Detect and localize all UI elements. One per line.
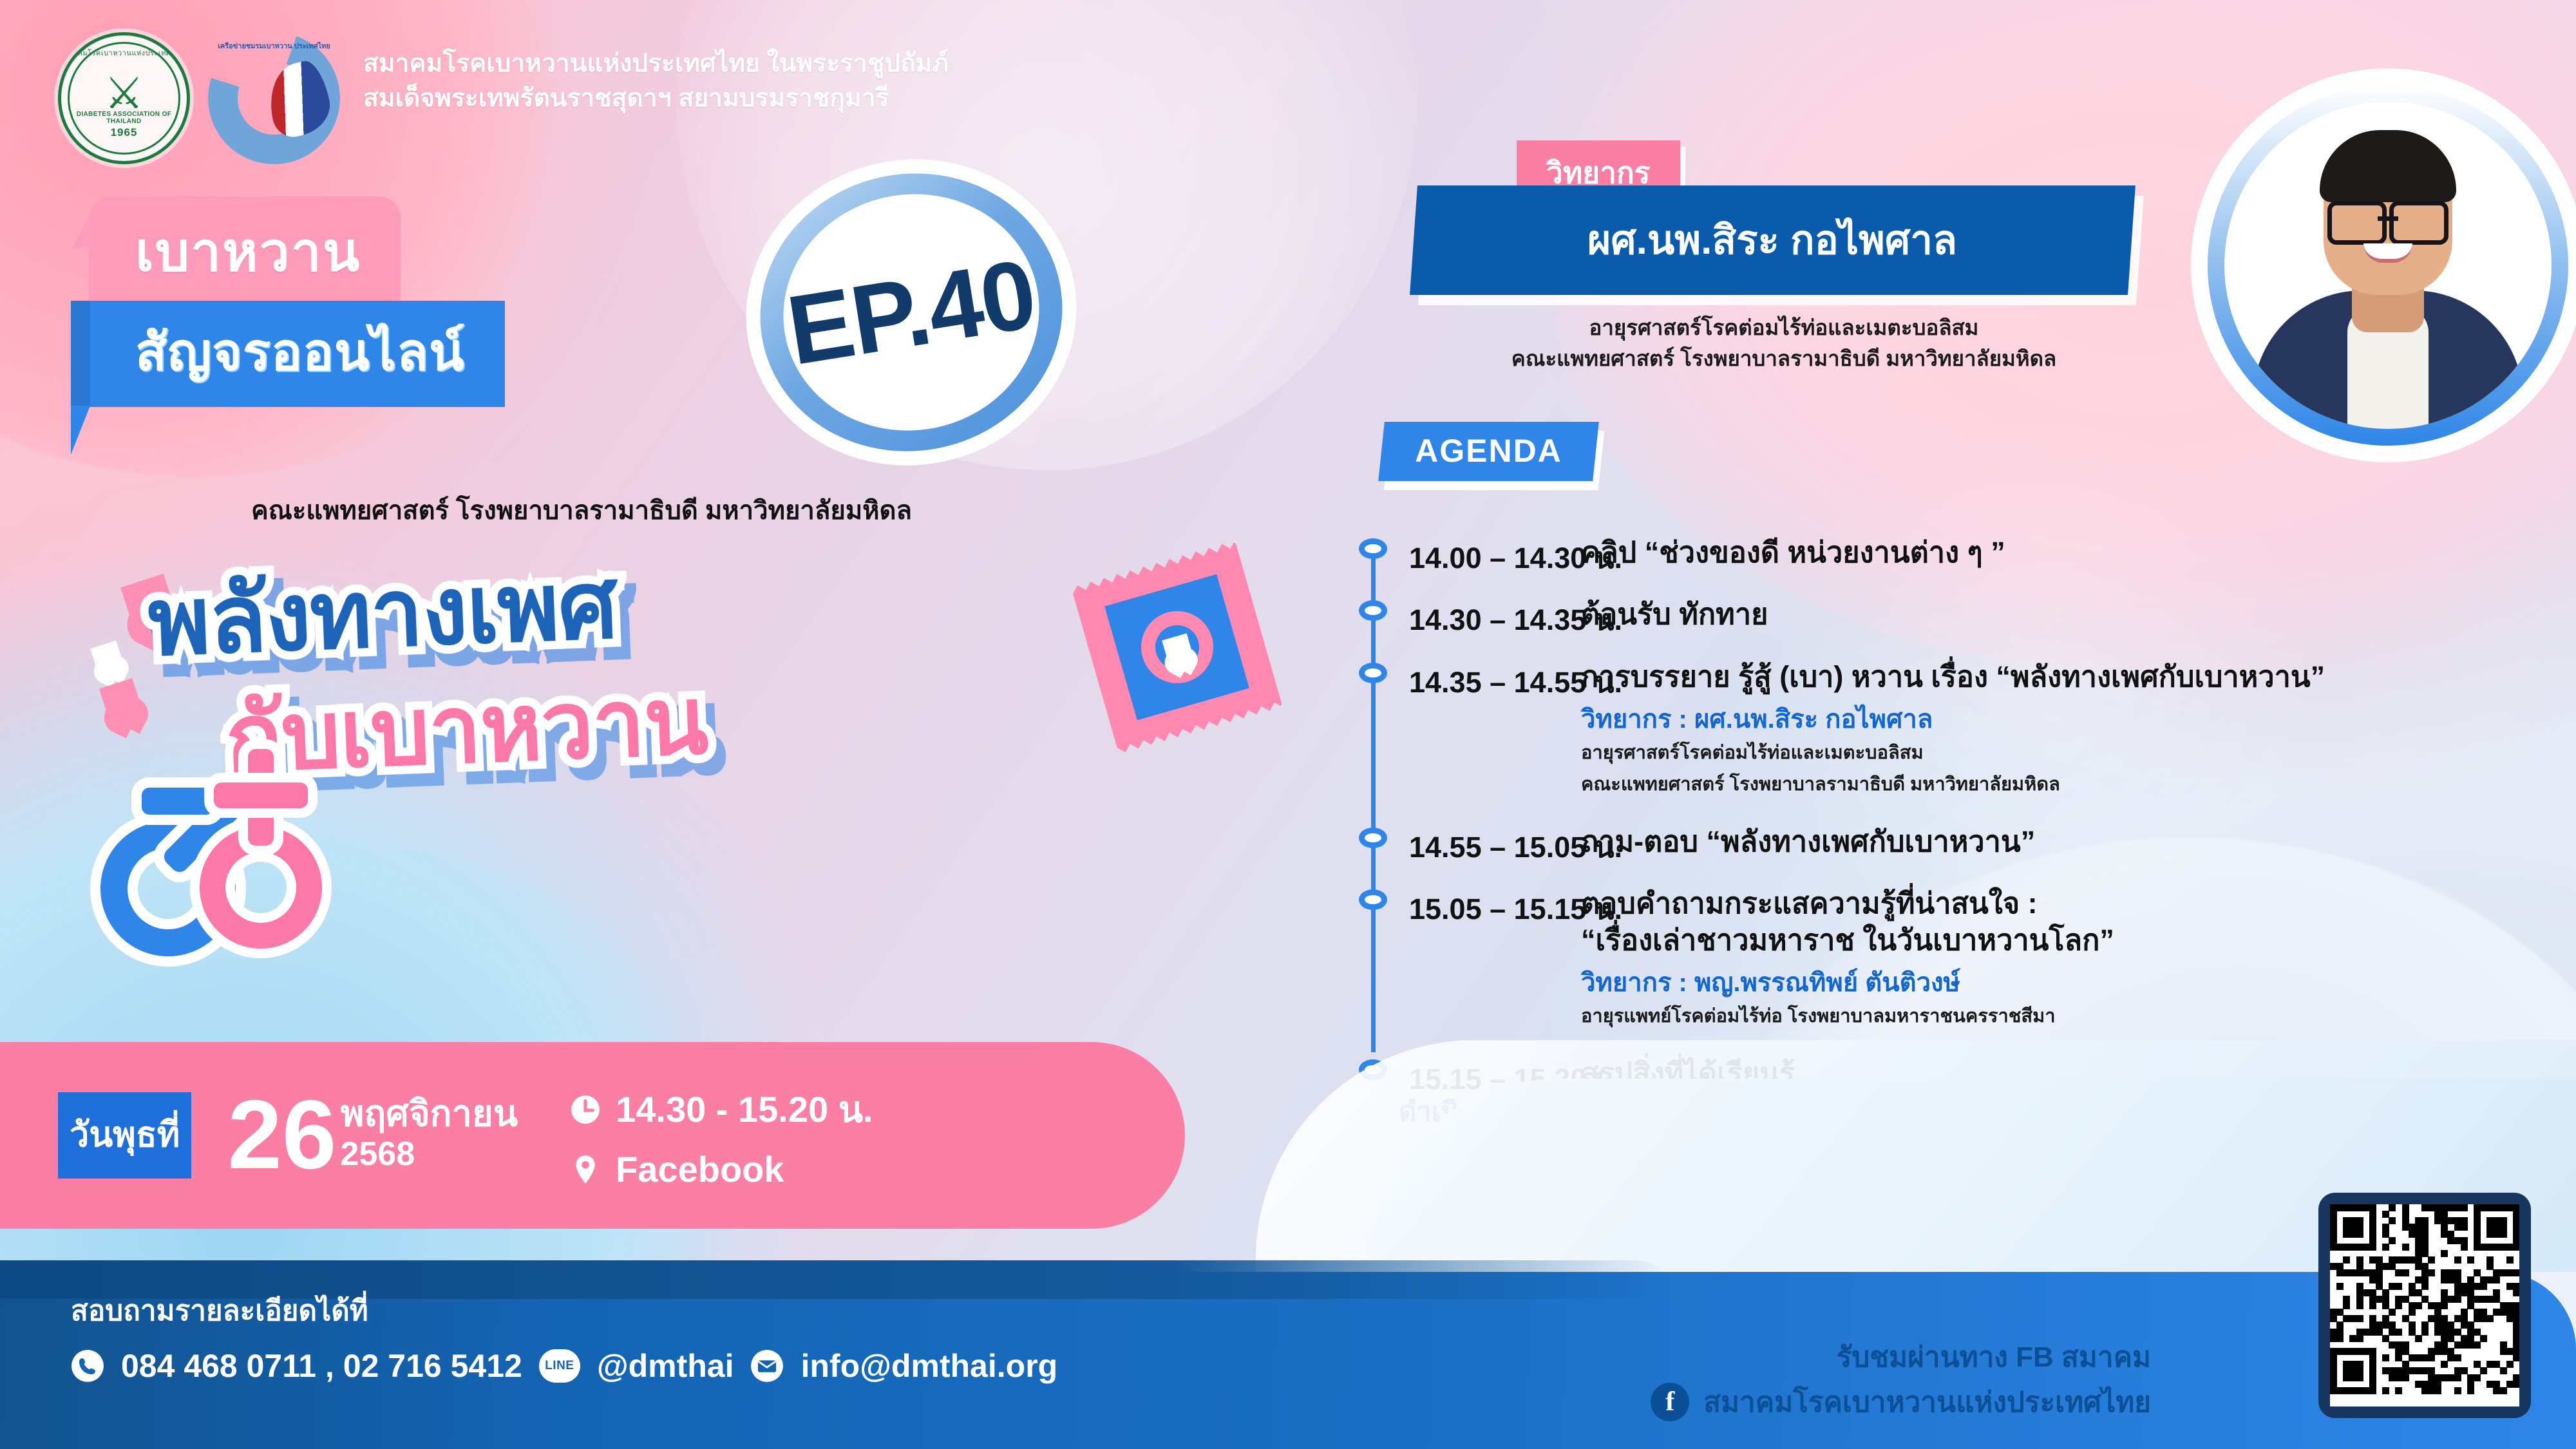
- envelope-icon[interactable]: [750, 1349, 784, 1383]
- agenda-item-title: “เรื่องเล่าชาวมหาราช ในวันเบาหวานโลก”: [1581, 922, 2544, 958]
- speaker-affiliation-line-1: อายุรศาสตร์โรคต่อมไร้ท่อและเมตะบอลิสม: [1414, 312, 2154, 343]
- agenda-item-affiliation: อายุรศาสตร์โรคต่อมไร้ท่อและเมตะบอลิสม: [1581, 740, 2544, 766]
- speaker-name: ผศ.นพ.สิระ กอไพศาล: [1587, 209, 1957, 272]
- title-pink-banner: เบาหวาน: [89, 196, 401, 301]
- facebook-page-name[interactable]: สมาคมโรคเบาหวานแห่งประเทศไทย: [1703, 1379, 2151, 1425]
- agenda-item-body: ต้อนรับ ทักทาย: [1581, 596, 2544, 654]
- gender-symbols-graphic: [71, 757, 348, 1014]
- timeline-dot-icon: [1359, 663, 1387, 683]
- program-title-block: เบาหวาน สัญจรออนไลน์ EP.40: [71, 196, 1037, 407]
- caduceus-icon: ⚔: [104, 71, 144, 115]
- diabetes-association-logo: สมาคมโรคเบาหวานแห่งประเทศไทย ⚔ DIABETES …: [58, 32, 190, 164]
- year-label: 2568: [340, 1132, 518, 1177]
- weekday-label: วันพุธที่: [70, 1106, 180, 1162]
- day-number: 26: [227, 1090, 336, 1180]
- agenda-item-body: คลิป “ช่วงของดี หน่วยงานต่าง ๆ ”: [1581, 535, 2544, 592]
- agenda-item-speaker: วิทยากร : ผศ.นพ.สิระ กอไพศาล: [1581, 704, 2544, 735]
- agenda-tag: AGENDA: [1378, 422, 1598, 481]
- contact-block: สอบถามรายละเอียดได้ที่ 084 468 0711 , 02…: [71, 1288, 1294, 1385]
- speaker-portrait: [2208, 85, 2568, 446]
- agenda-item-title: คลิป “ช่วงของดี หน่วยงานต่าง ๆ ”: [1581, 535, 2544, 571]
- agenda-item-spacer: [1581, 860, 2544, 882]
- female-symbol-cross: [214, 782, 308, 808]
- logo-year: 1965: [111, 126, 138, 139]
- episode-number: EP.40: [740, 152, 1082, 473]
- timeline-dot-icon: [1359, 828, 1387, 848]
- agenda-item-time: 14.35 – 14.55 น.: [1365, 659, 1581, 705]
- event-time: 14.30 - 15.20 น.: [616, 1081, 873, 1138]
- speaker-portrait-inner: [2224, 102, 2552, 429]
- title-line-1: เบาหวาน: [135, 222, 361, 282]
- agenda-item-time: 14.30 – 14.35 น.: [1365, 596, 1581, 643]
- network-label: เครือข่ายชมรมเบาหวาน ประเทศไทย: [208, 40, 340, 52]
- timeline-dot-icon: [1359, 538, 1387, 559]
- event-meta: 14.30 - 15.20 น. Facebook: [569, 1081, 873, 1190]
- headline-line-1: พลังทางเพศ: [146, 558, 618, 670]
- agenda-item-affiliation: อายุรแพทย์โรคต่อมไร้ท่อ โรงพยาบาลมหาราชน…: [1581, 1003, 2544, 1030]
- logo-arc-top-label: สมาคมโรคเบาหวานแห่งประเทศไทย: [61, 47, 187, 59]
- agenda-item-title: การบรรยาย รู้สู้ (เบา) หวาน เรื่อง “พลัง…: [1581, 659, 2544, 695]
- episode-badge: EP.40: [760, 174, 1063, 451]
- poster-canvas: สมาคมโรคเบาหวานแห่งประเทศไทย ⚔ DIABETES …: [0, 0, 2576, 1449]
- facebook-icon[interactable]: f: [1651, 1383, 1689, 1421]
- agenda-item-title: ต้อนรับ ทักทาย: [1581, 596, 2544, 632]
- agenda-item-spacer: [1581, 798, 2544, 820]
- portrait-illustration: [2253, 126, 2523, 429]
- agenda-item-body: การบรรยาย รู้สู้ (เบา) หวาน เรื่อง “พลัง…: [1581, 659, 2544, 820]
- line-icon[interactable]: LINE: [539, 1349, 580, 1383]
- date-time-bar: วันพุธที่ 26 พฤศจิกายน 2568 14.30 - 15.2…: [0, 1042, 1185, 1229]
- agenda-item-body: ตอบคำถามกระแสความรู้ที่น่าสนใจ :“เรื่องเ…: [1581, 885, 2544, 1052]
- facebook-watch-block: รับชมผ่านทาง FB สมาคม f สมาคมโรคเบาหวานแ…: [1391, 1339, 2151, 1425]
- speaker-affiliation: อายุรศาสตร์โรคต่อมไร้ท่อและเมตะบอลิสม คณ…: [1414, 312, 2154, 374]
- agenda-tag-label: AGENDA: [1415, 432, 1562, 469]
- agenda-item-speaker: วิทยากร : พญ.พรรณทิพย์ ตันติวงษ์: [1581, 967, 2544, 998]
- male-symbol-arrowhead: [142, 788, 214, 815]
- agenda-item-affiliation: คณะแพทยศาสตร์ โรงพยาบาลรามาธิบดี มหาวิทย…: [1581, 772, 2544, 798]
- title-line-2: สัญจรออนไลน์: [135, 323, 465, 381]
- platform-row: Facebook: [569, 1148, 873, 1190]
- org-line-2: สมเด็จพระเทพรัตนราชสุดาฯ สยามบรมราชกุมาร…: [363, 81, 949, 116]
- speaker-tag-label: วิทยากร: [1546, 156, 1651, 189]
- agenda-timeline: 14.00 – 14.30 น.คลิป “ช่วงของดี หน่วยงาน…: [1365, 535, 2544, 1117]
- agenda-item: 14.55 – 15.05 น.ถาม-ตอบ “พลังทางเพศกับเบ…: [1365, 824, 2544, 882]
- agenda-item-title: ตอบคำถามกระแสความรู้ที่น่าสนใจ :: [1581, 885, 2544, 922]
- org-line-1: สมาคมโรคเบาหวานแห่งประเทศไทย ในพระราชูปถ…: [363, 46, 949, 81]
- title-blue-banner: สัญจรออนไลน์: [89, 301, 505, 407]
- facebook-watch-line-1: รับชมผ่านทาง FB สมาคม: [1391, 1339, 2151, 1376]
- speaker-affiliation-line-2: คณะแพทยศาสตร์ โรงพยาบาลรามาธิบดี มหาวิทย…: [1414, 343, 2154, 374]
- agenda-item: 14.00 – 14.30 น.คลิป “ช่วงของดี หน่วยงาน…: [1365, 535, 2544, 592]
- agenda-item: 14.30 – 14.35 น.ต้อนรับ ทักทาย: [1365, 596, 2544, 654]
- logo-arc-bottom-label: DIABETES ASSOCIATION OF THAILAND: [61, 111, 187, 125]
- speaker-name-bar: ผศ.นพ.สิระ กอไพศาล: [1410, 185, 2136, 295]
- weekday-chip: วันพุธที่: [58, 1092, 191, 1179]
- agenda-list: 14.00 – 14.30 น.คลิป “ช่วงของดี หน่วยงาน…: [1365, 535, 2544, 1113]
- contact-phone[interactable]: 084 468 0711 , 02 716 5412: [121, 1347, 522, 1385]
- contact-email[interactable]: info@dmthai.org: [800, 1347, 1057, 1385]
- agenda-item-spacer: [1581, 633, 2544, 655]
- header-branding: สมาคมโรคเบาหวานแห่งประเทศไทย ⚔ DIABETES …: [58, 32, 949, 164]
- phone-icon[interactable]: [71, 1349, 104, 1383]
- qr-code-canvas: [2330, 1204, 2519, 1406]
- agenda-item-spacer: [1581, 571, 2544, 592]
- time-row: 14.30 - 15.20 น.: [569, 1081, 873, 1138]
- contact-line-id[interactable]: @dmthai: [597, 1347, 734, 1385]
- line-badge-label: LINE: [545, 1359, 574, 1373]
- agenda-item: 14.35 – 14.55 น.การบรรยาย รู้สู้ (เบา) ห…: [1365, 659, 2544, 820]
- contact-row: 084 468 0711 , 02 716 5412 LINE @dmthai …: [71, 1347, 1294, 1385]
- location-pin-icon: [569, 1153, 601, 1186]
- contact-header: สอบถามรายละเอียดได้ที่: [71, 1288, 1294, 1333]
- portrait-hair: [2320, 130, 2456, 202]
- agenda-item-title: ถาม-ตอบ “พลังทางเพศกับเบาหวาน”: [1581, 824, 2544, 860]
- date-number-block: 26 พฤศจิกายน 2568: [227, 1090, 518, 1180]
- agenda-item-time: 14.00 – 14.30 น.: [1365, 535, 1581, 581]
- month-label: พฤศจิกายน: [340, 1095, 518, 1132]
- clock-icon: [569, 1094, 601, 1126]
- diabetes-club-network-logo: เครือข่ายชมรมเบาหวาน ประเทศไทย: [208, 32, 340, 164]
- event-platform: Facebook: [616, 1148, 784, 1190]
- agenda-item-body: ถาม-ตอบ “พลังทางเพศกับเบาหวาน”: [1581, 824, 2544, 882]
- organization-lines: สมาคมโรคเบาหวานแห่งประเทศไทย ในพระราชูปถ…: [363, 32, 949, 116]
- faculty-line: คณะแพทยศาสตร์ โรงพยาบาลรามาธิบดี มหาวิทย…: [251, 489, 912, 531]
- qr-code[interactable]: [2318, 1193, 2531, 1418]
- agenda-item: 15.05 – 15.15 น.ตอบคำถามกระแสความรู้ที่น…: [1365, 885, 2544, 1052]
- agenda-item-time: 14.55 – 15.05 น.: [1365, 824, 1581, 870]
- agenda-item-time: 15.05 – 15.15 น.: [1365, 885, 1581, 932]
- eyeglasses-icon: [2327, 201, 2448, 236]
